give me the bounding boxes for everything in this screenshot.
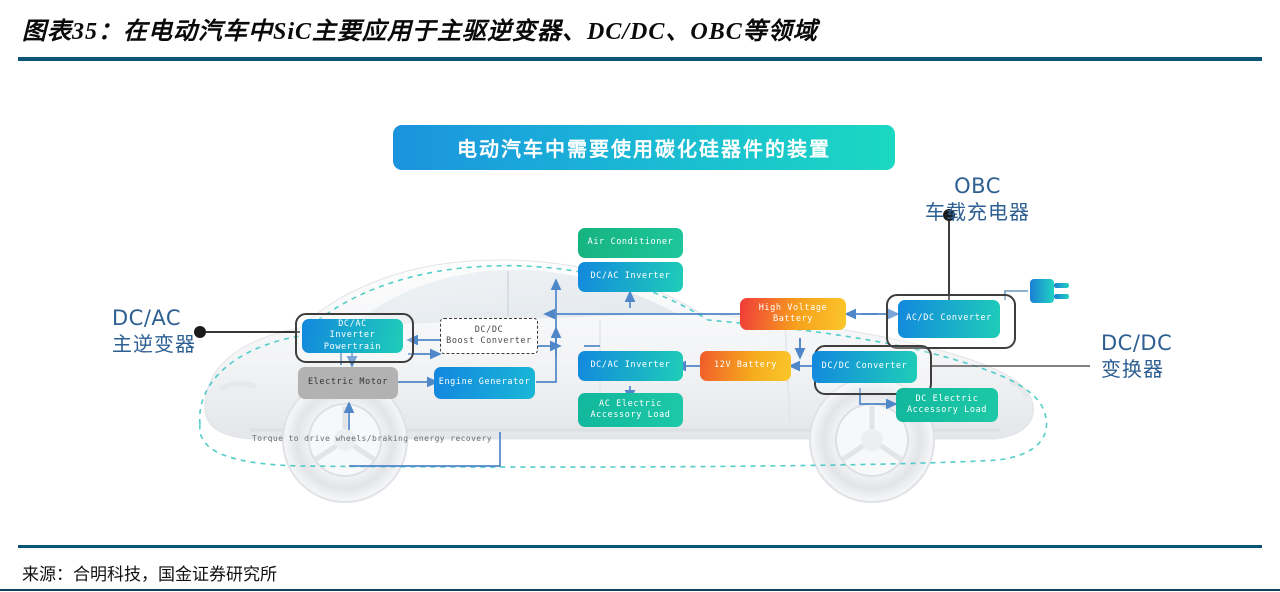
node-dcac-inverter-powertrain[interactable]: DC/AC Inverter Powertrain	[302, 319, 403, 353]
source-note: 来源：合明科技，国金证券研究所	[22, 560, 277, 585]
charging-plug-icon	[1028, 273, 1072, 309]
figure-canvas: 电动汽车中需要使用碳化硅器件的装置 Air Conditioner DC/AC …	[0, 70, 1280, 540]
footer-divider	[18, 545, 1262, 548]
node-dcac-inverter-top[interactable]: DC/AC Inverter	[578, 262, 683, 292]
header-divider	[18, 57, 1262, 61]
node-ac-electric-accessory-load[interactable]: AC Electric Accessory Load	[578, 393, 683, 427]
callout-dcac: DC/AC 主逆变器	[112, 306, 196, 356]
node-dcdc-boost-converter[interactable]: DC/DC Boost Converter	[440, 318, 538, 354]
callout-dcac-line2: 主逆变器	[112, 332, 196, 356]
page-title: 图表35：在电动汽车中SiC主要应用于主驱逆变器、DC/DC、OBC等领域	[22, 11, 818, 46]
node-electric-motor[interactable]: Electric Motor	[298, 367, 398, 399]
node-dcdc-converter[interactable]: DC/DC Converter	[812, 351, 917, 383]
node-dc-electric-accessory-load[interactable]: DC Electric Accessory Load	[896, 388, 998, 422]
callout-dcdc: DC/DC 变换器	[1101, 331, 1172, 381]
node-air-conditioner[interactable]: Air Conditioner	[578, 228, 683, 258]
figure-banner-text: 电动汽车中需要使用碳化硅器件的装置	[457, 133, 831, 162]
node-engine-generator[interactable]: Engine Generator	[434, 367, 535, 399]
page-bottom-rule	[0, 589, 1280, 591]
callout-obc-line2: 车载充电器	[925, 200, 1030, 224]
callout-obc: OBC 车载充电器	[925, 174, 1030, 224]
torque-caption: Torque to drive wheels/braking energy re…	[252, 434, 492, 443]
callout-dcdc-line2: 变换器	[1101, 357, 1172, 381]
node-12v-battery[interactable]: 12V Battery	[700, 351, 791, 381]
node-acdc-converter[interactable]: AC/DC Converter	[898, 300, 1000, 338]
node-dcac-inverter-low[interactable]: DC/AC Inverter	[578, 351, 683, 381]
callout-dcdc-line1: DC/DC	[1101, 331, 1172, 357]
node-high-voltage-battery[interactable]: High Voltage Battery	[740, 298, 846, 330]
callout-dcac-line1: DC/AC	[112, 306, 196, 332]
callout-obc-line1: OBC	[925, 174, 1030, 200]
figure-banner: 电动汽车中需要使用碳化硅器件的装置	[393, 125, 895, 170]
